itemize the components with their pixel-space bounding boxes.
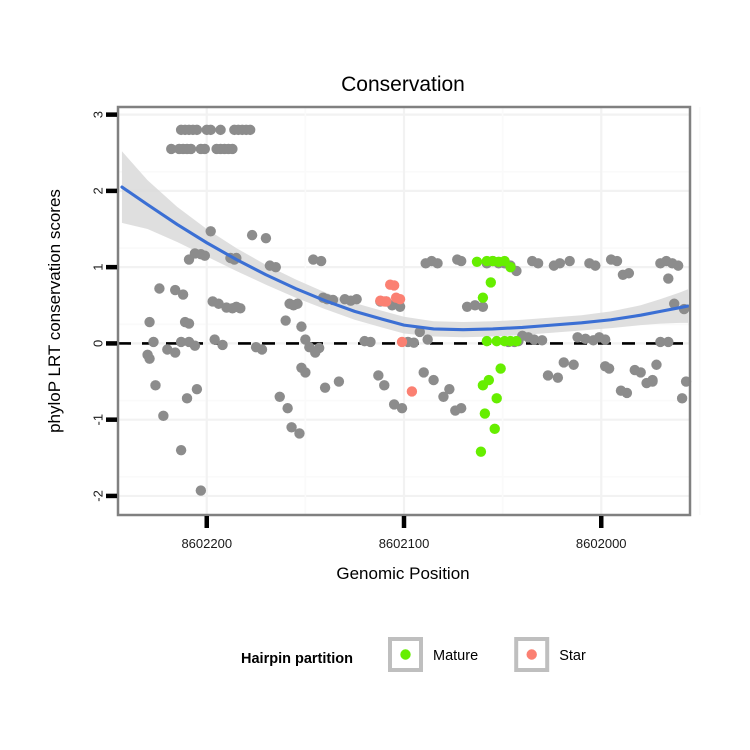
data-point	[215, 125, 225, 135]
data-point	[444, 384, 454, 394]
data-point	[184, 254, 194, 264]
data-point	[482, 336, 492, 346]
data-point	[314, 343, 324, 353]
x-tick-label: 8602200	[181, 536, 232, 551]
data-point	[282, 403, 292, 413]
data-point	[190, 341, 200, 351]
data-point	[409, 337, 419, 347]
data-point	[647, 376, 657, 386]
data-point	[294, 428, 304, 438]
data-point	[316, 256, 326, 266]
data-point	[397, 337, 407, 347]
data-point	[663, 273, 673, 283]
data-point	[495, 363, 505, 373]
x-tick-label: 8602000	[576, 536, 627, 551]
data-point	[320, 382, 330, 392]
data-point	[381, 296, 391, 306]
data-point	[490, 424, 500, 434]
y-tick-label: 3	[90, 111, 105, 118]
y-axis-title: phyloP LRT conservation scores	[45, 189, 64, 433]
data-point	[511, 336, 521, 346]
data-point	[200, 144, 210, 154]
data-point	[537, 335, 547, 345]
data-point	[158, 411, 168, 421]
legend-key-dot	[527, 649, 537, 659]
data-point	[144, 353, 154, 363]
data-point	[150, 380, 160, 390]
data-point	[275, 392, 285, 402]
data-point	[200, 251, 210, 261]
data-point	[432, 258, 442, 268]
data-point	[271, 262, 281, 272]
legend-title: Hairpin partition	[241, 651, 353, 667]
data-point	[472, 257, 482, 267]
data-point	[196, 485, 206, 495]
data-point	[422, 334, 432, 344]
x-axis-title: Genomic Position	[336, 564, 469, 583]
data-point	[651, 360, 661, 370]
y-tick-label: -1	[91, 414, 106, 426]
data-point	[476, 447, 486, 457]
data-point	[622, 388, 632, 398]
data-point	[590, 260, 600, 270]
data-point	[533, 258, 543, 268]
data-point	[351, 294, 361, 304]
data-point	[407, 386, 417, 396]
y-tick-label: 1	[90, 264, 105, 271]
data-point	[373, 370, 383, 380]
data-point	[247, 230, 257, 240]
data-point	[296, 321, 306, 331]
conservation-scatter-plot: Conservation -2-101238602200860210086020…	[0, 0, 750, 750]
data-point	[486, 277, 496, 287]
data-point	[170, 347, 180, 357]
data-point	[673, 260, 683, 270]
data-point	[456, 403, 466, 413]
data-point	[192, 125, 202, 135]
data-point	[478, 292, 488, 302]
data-point	[478, 380, 488, 390]
data-point	[280, 315, 290, 325]
data-point	[456, 256, 466, 266]
data-point	[261, 233, 271, 243]
data-point	[677, 393, 687, 403]
data-point	[334, 376, 344, 386]
x-tick-label: 8602100	[379, 536, 430, 551]
data-point	[235, 303, 245, 313]
data-point	[492, 393, 502, 403]
legend-entry-label: Mature	[433, 648, 478, 664]
data-point	[245, 125, 255, 135]
data-point	[184, 318, 194, 328]
data-point	[480, 408, 490, 418]
data-point	[192, 384, 202, 394]
y-tick-label: -2	[91, 490, 106, 502]
data-point	[568, 360, 578, 370]
data-point	[182, 393, 192, 403]
page-title: Conservation	[341, 73, 465, 96]
data-point	[419, 367, 429, 377]
data-point	[604, 363, 614, 373]
data-point	[559, 357, 569, 367]
chart-svg: Conservation -2-101238602200860210086020…	[0, 0, 750, 750]
data-point	[300, 367, 310, 377]
y-tick-label: 2	[90, 187, 105, 194]
data-point	[663, 337, 673, 347]
data-point	[292, 299, 302, 309]
data-point	[379, 380, 389, 390]
legend-entry-label: Star	[559, 648, 586, 664]
data-point	[543, 370, 553, 380]
data-point	[600, 334, 610, 344]
data-point	[206, 226, 216, 236]
y-tick-label: 0	[91, 340, 106, 347]
data-point	[564, 256, 574, 266]
data-point	[178, 289, 188, 299]
data-point	[148, 337, 158, 347]
data-point	[395, 294, 405, 304]
data-point	[257, 344, 267, 354]
data-point	[227, 144, 237, 154]
data-point	[428, 375, 438, 385]
data-point	[176, 445, 186, 455]
data-point	[478, 302, 488, 312]
legend-key-dot	[400, 649, 410, 659]
data-point	[389, 280, 399, 290]
data-point	[505, 262, 515, 272]
data-point	[555, 258, 565, 268]
data-point	[553, 373, 563, 383]
data-point	[624, 268, 634, 278]
data-point	[612, 256, 622, 266]
data-point	[217, 340, 227, 350]
data-point	[206, 125, 216, 135]
data-point	[635, 367, 645, 377]
data-point	[365, 337, 375, 347]
data-point	[397, 403, 407, 413]
data-point	[186, 144, 196, 154]
data-point	[144, 317, 154, 327]
data-point	[154, 283, 164, 293]
